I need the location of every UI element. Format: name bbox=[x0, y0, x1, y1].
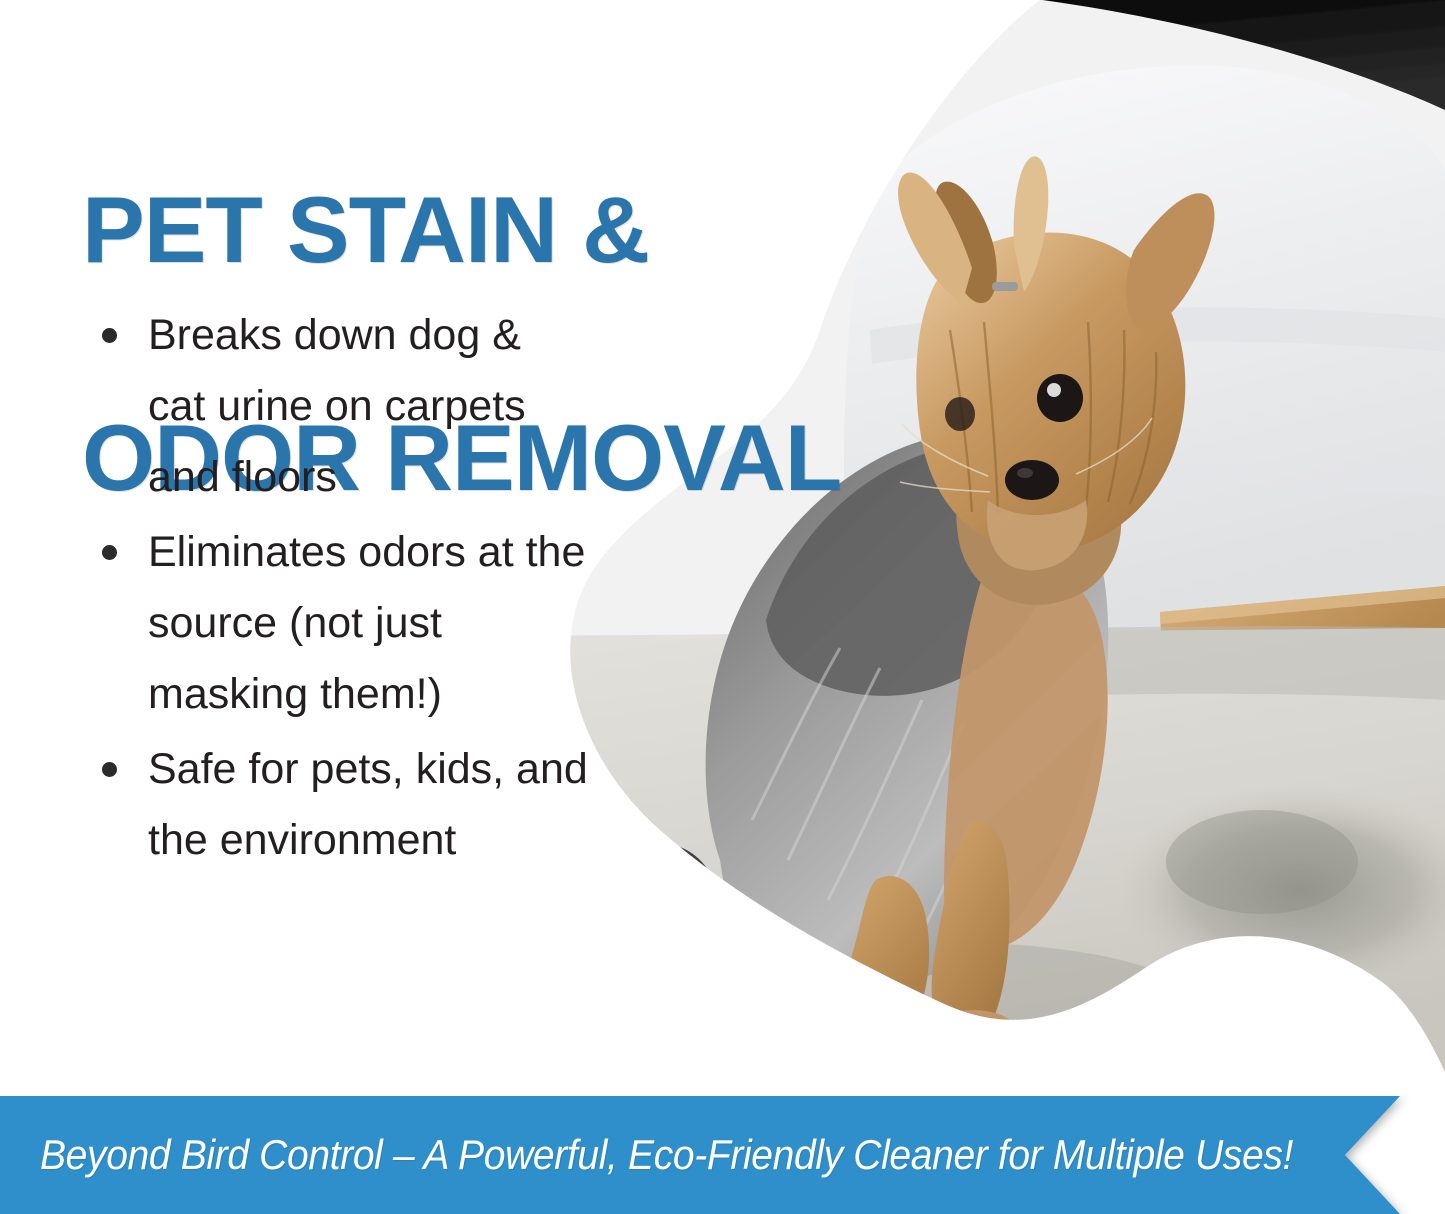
benefits-list: Breaks down dog & cat urine on carpets a… bbox=[90, 300, 590, 880]
bullet-icon bbox=[102, 762, 117, 777]
bullet-icon bbox=[102, 545, 117, 560]
list-item: Breaks down dog & cat urine on carpets a… bbox=[90, 300, 590, 513]
urine-stain-core bbox=[1166, 810, 1358, 914]
dog-eye-right-glint bbox=[1047, 383, 1061, 397]
benefit-text: Safe for pets, kids, and the environment bbox=[148, 745, 588, 864]
dog-nose bbox=[1005, 460, 1059, 500]
dog-hair-tie bbox=[992, 282, 1018, 291]
dog-nose-highlight bbox=[1017, 468, 1033, 478]
benefit-text: Breaks down dog & cat urine on carpets a… bbox=[148, 311, 526, 501]
benefit-text: Eliminates odors at the source (not just… bbox=[148, 528, 585, 718]
bullet-icon bbox=[102, 328, 117, 343]
tagline-banner: Beyond Bird Control – A Powerful, Eco-Fr… bbox=[0, 1096, 1445, 1214]
list-item: Safe for pets, kids, and the environment bbox=[90, 734, 590, 876]
tagline-text: Beyond Bird Control – A Powerful, Eco-Fr… bbox=[40, 1096, 1293, 1214]
dog-eye-right bbox=[1037, 374, 1083, 422]
list-item: Eliminates odors at the source (not just… bbox=[90, 517, 590, 730]
dog-paw-left bbox=[836, 1023, 932, 1065]
headline-line-1: PET STAIN & bbox=[82, 173, 982, 287]
dog-paw-right bbox=[928, 1010, 1016, 1050]
